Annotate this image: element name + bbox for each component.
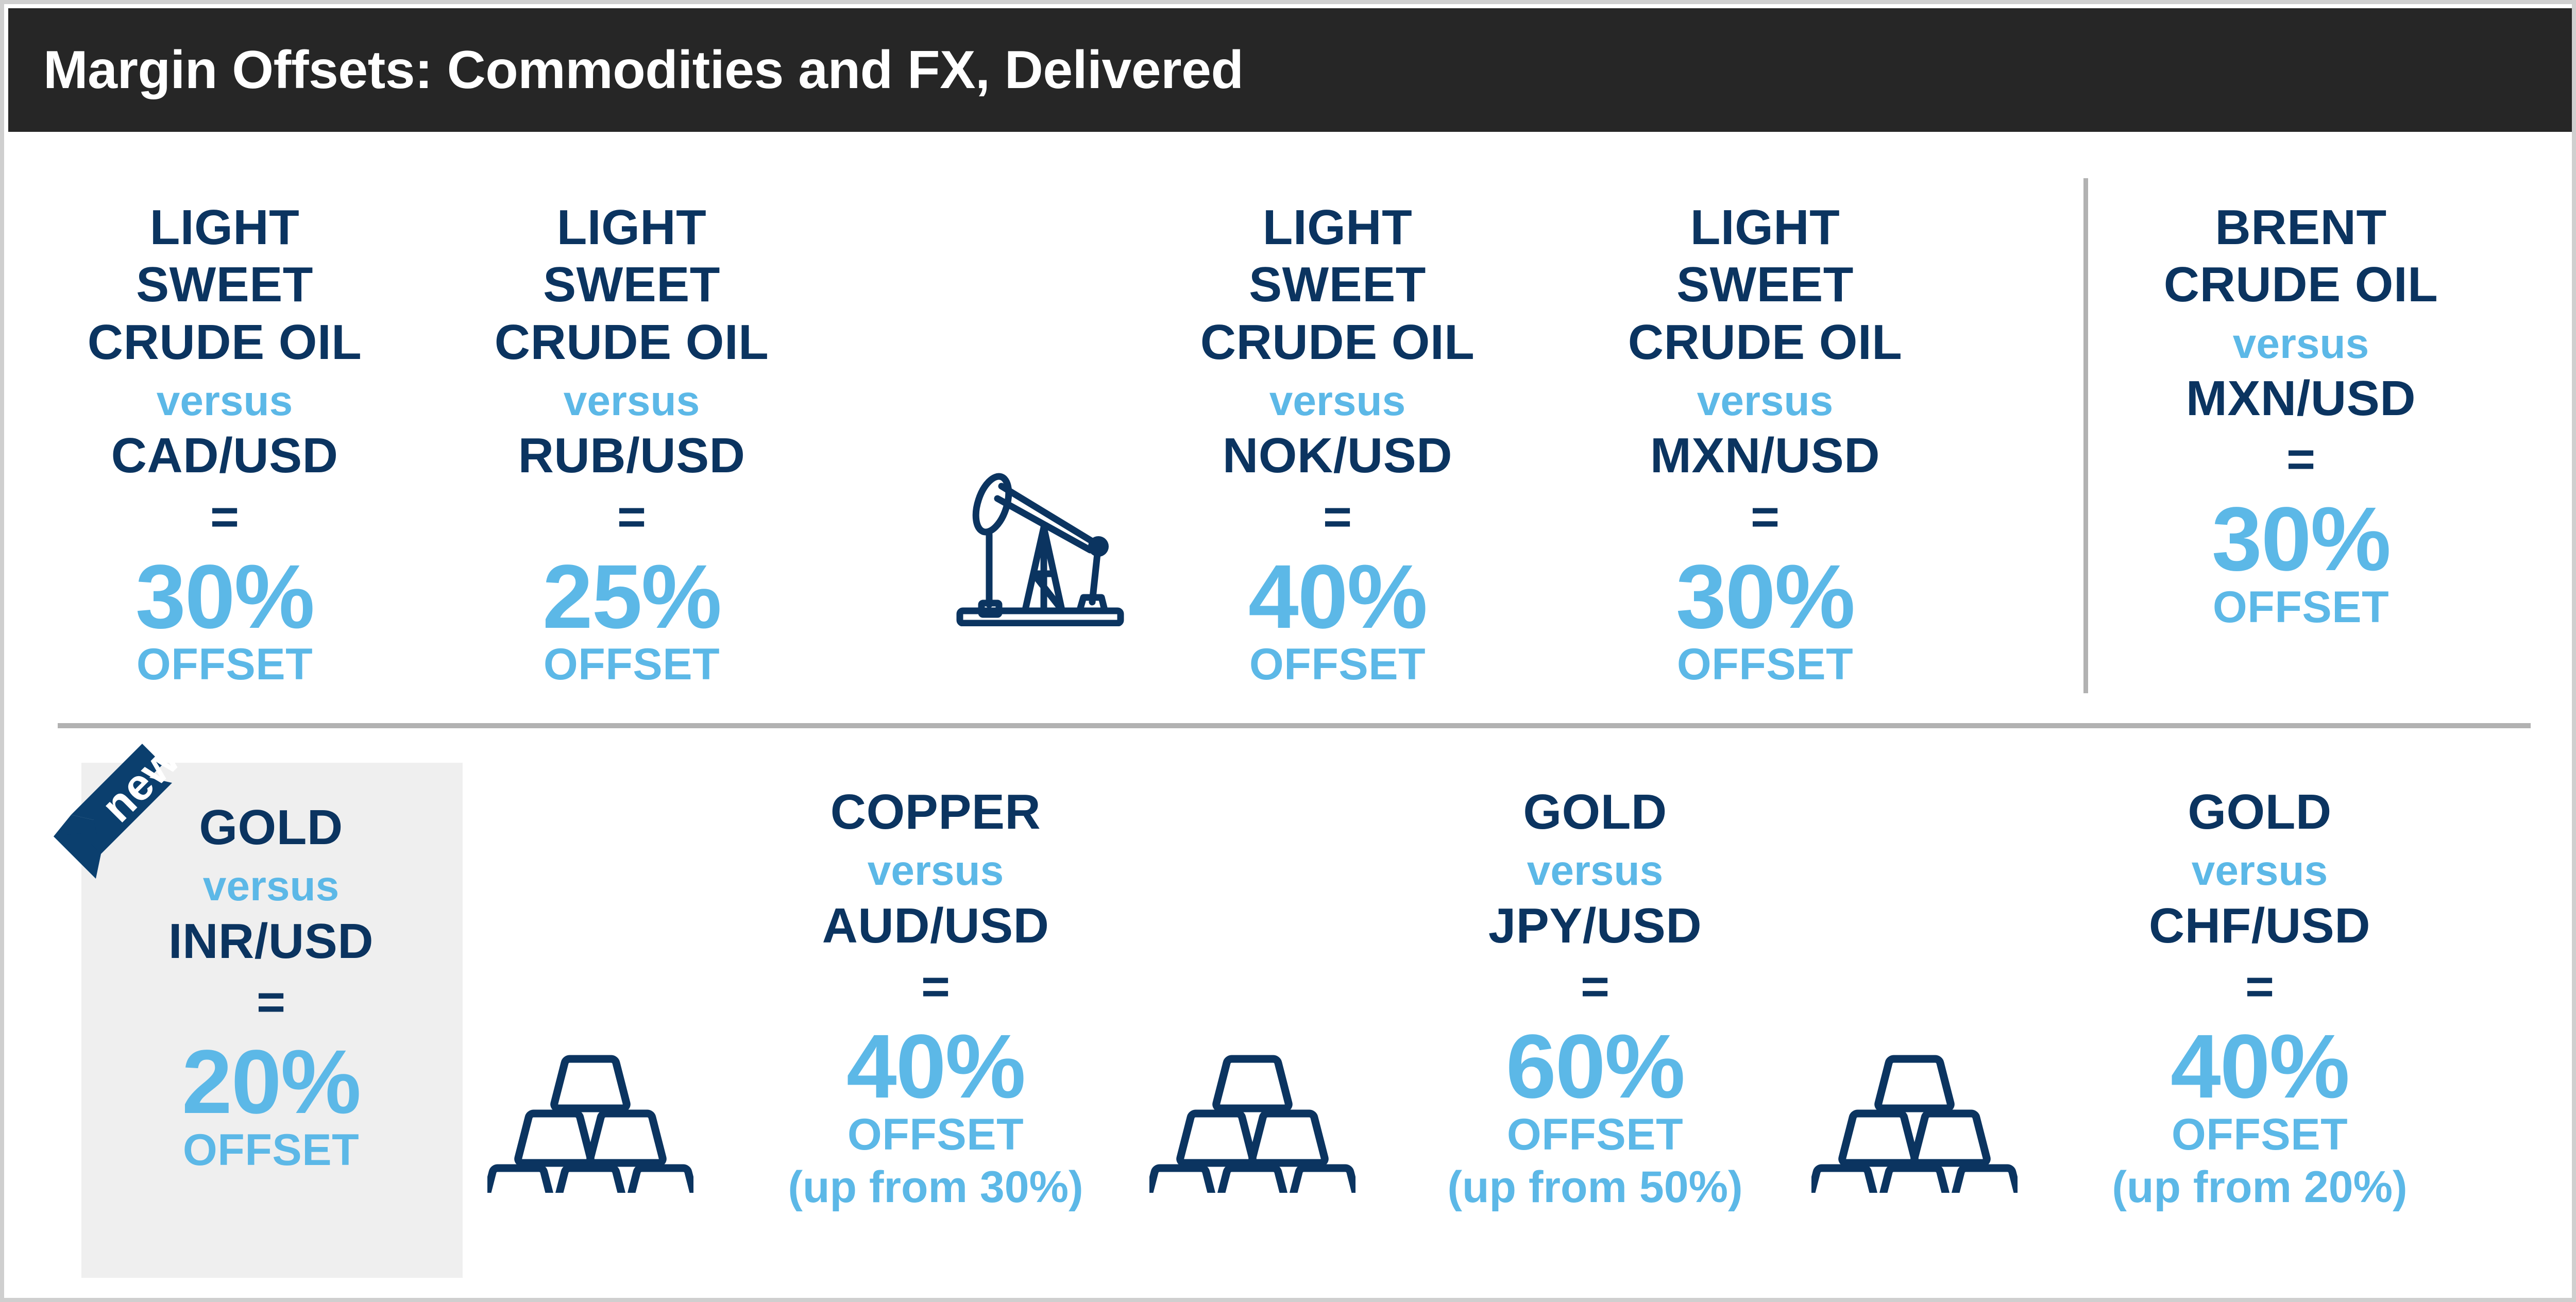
offset-percent: 30% (55, 551, 395, 644)
offset-previous-value: (up from 20%) (2079, 1162, 2440, 1213)
gold-bars-icon (1149, 1038, 1355, 1193)
versus-label: versus (462, 376, 802, 426)
commodity-name: GOLD (1415, 783, 1775, 841)
equals-sign: = (2079, 962, 2440, 1012)
versus-label: versus (755, 846, 1116, 896)
margin-offsets-infographic: Margin Offsets: Commodities and FX, Deli… (0, 0, 2576, 1302)
offset-previous-value: (up from 30%) (755, 1162, 1116, 1213)
offset-card-crude-nok: LIGHT SWEET CRUDE OIL versus NOK/USD = 4… (1167, 199, 1507, 689)
equals-sign: = (1415, 962, 1775, 1012)
versus-label: versus (1167, 376, 1507, 426)
equals-sign: = (55, 492, 395, 542)
oil-pumpjack-icon (952, 456, 1127, 626)
equals-sign: = (1595, 492, 1935, 542)
fx-pair: INR/USD (91, 912, 451, 970)
fx-pair: RUB/USD (462, 426, 802, 485)
offset-label: OFFSET (55, 640, 395, 689)
fx-pair: CHF/USD (2079, 897, 2440, 955)
body-area: LIGHT SWEET CRUDE OIL versus CAD/USD = 3… (8, 132, 2576, 1298)
versus-label: versus (91, 861, 451, 912)
versus-label: versus (2131, 319, 2471, 369)
offset-card-gold-jpy: GOLD versus JPY/USD = 60% OFFSET (up fro… (1415, 783, 1775, 1213)
equals-sign: = (755, 962, 1116, 1012)
versus-label: versus (2079, 846, 2440, 896)
commodity-name: LIGHT SWEET CRUDE OIL (55, 199, 395, 371)
offset-label: OFFSET (1167, 640, 1507, 689)
versus-label: versus (55, 376, 395, 426)
offset-card-crude-mxn: LIGHT SWEET CRUDE OIL versus MXN/USD = 3… (1595, 199, 1935, 689)
gold-bars-icon (1811, 1038, 2018, 1193)
fx-pair: JPY/USD (1415, 897, 1775, 955)
page-title: Margin Offsets: Commodities and FX, Deli… (8, 40, 1243, 101)
commodity-name: COPPER (755, 783, 1116, 841)
offset-label: OFFSET (91, 1126, 451, 1175)
offset-label: OFFSET (1415, 1110, 1775, 1159)
gold-bars-icon (487, 1038, 693, 1193)
equals-sign: = (1167, 492, 1507, 542)
offset-percent: 60% (1415, 1021, 1775, 1113)
commodity-name: LIGHT SWEET CRUDE OIL (462, 199, 802, 371)
offset-label: OFFSET (2131, 583, 2471, 632)
horizontal-divider (58, 723, 2531, 728)
offset-percent: 20% (91, 1036, 451, 1129)
fx-pair: MXN/USD (1595, 426, 1935, 485)
offset-card-crude-cad: LIGHT SWEET CRUDE OIL versus CAD/USD = 3… (55, 199, 395, 689)
commodity-name: LIGHT SWEET CRUDE OIL (1167, 199, 1507, 371)
equals-sign: = (91, 978, 451, 1027)
offset-card-brent-mxn: BRENT CRUDE OIL versus MXN/USD = 30% OFF… (2131, 199, 2471, 631)
offset-label: OFFSET (462, 640, 802, 689)
commodity-name: LIGHT SWEET CRUDE OIL (1595, 199, 1935, 371)
offset-percent: 30% (1595, 551, 1935, 644)
offset-percent: 40% (2079, 1021, 2440, 1113)
equals-sign: = (462, 492, 802, 542)
fx-pair: CAD/USD (55, 426, 395, 485)
commodity-name: BRENT CRUDE OIL (2131, 199, 2471, 314)
fx-pair: AUD/USD (755, 897, 1116, 955)
fx-pair: MXN/USD (2131, 369, 2471, 427)
versus-label: versus (1595, 376, 1935, 426)
fx-pair: NOK/USD (1167, 426, 1507, 485)
offset-percent: 40% (755, 1021, 1116, 1113)
offset-percent: 30% (2131, 493, 2471, 586)
offset-card-gold-inr: GOLD versus INR/USD = 20% OFFSET (91, 799, 451, 1174)
offset-card-copper-aud: COPPER versus AUD/USD = 40% OFFSET (up f… (755, 783, 1116, 1213)
commodity-name: GOLD (91, 799, 451, 856)
offset-percent: 40% (1167, 551, 1507, 644)
row-metals: GOLD versus INR/USD = 20% OFFSET (8, 742, 2576, 1298)
row-crude-oil: LIGHT SWEET CRUDE OIL versus CAD/USD = 3… (8, 132, 2576, 719)
versus-label: versus (1415, 846, 1775, 896)
offset-card-crude-rub: LIGHT SWEET CRUDE OIL versus RUB/USD = 2… (462, 199, 802, 689)
offset-label: OFFSET (2079, 1110, 2440, 1159)
offset-label: OFFSET (1595, 640, 1935, 689)
commodity-name: GOLD (2079, 783, 2440, 841)
header-bar: Margin Offsets: Commodities and FX, Deli… (8, 8, 2576, 132)
offset-label: OFFSET (755, 1110, 1116, 1159)
equals-sign: = (2131, 435, 2471, 484)
offset-percent: 25% (462, 551, 802, 644)
offset-card-gold-chf: GOLD versus CHF/USD = 40% OFFSET (up fro… (2079, 783, 2440, 1213)
offset-previous-value: (up from 50%) (1415, 1162, 1775, 1213)
vertical-divider (2083, 178, 2088, 693)
